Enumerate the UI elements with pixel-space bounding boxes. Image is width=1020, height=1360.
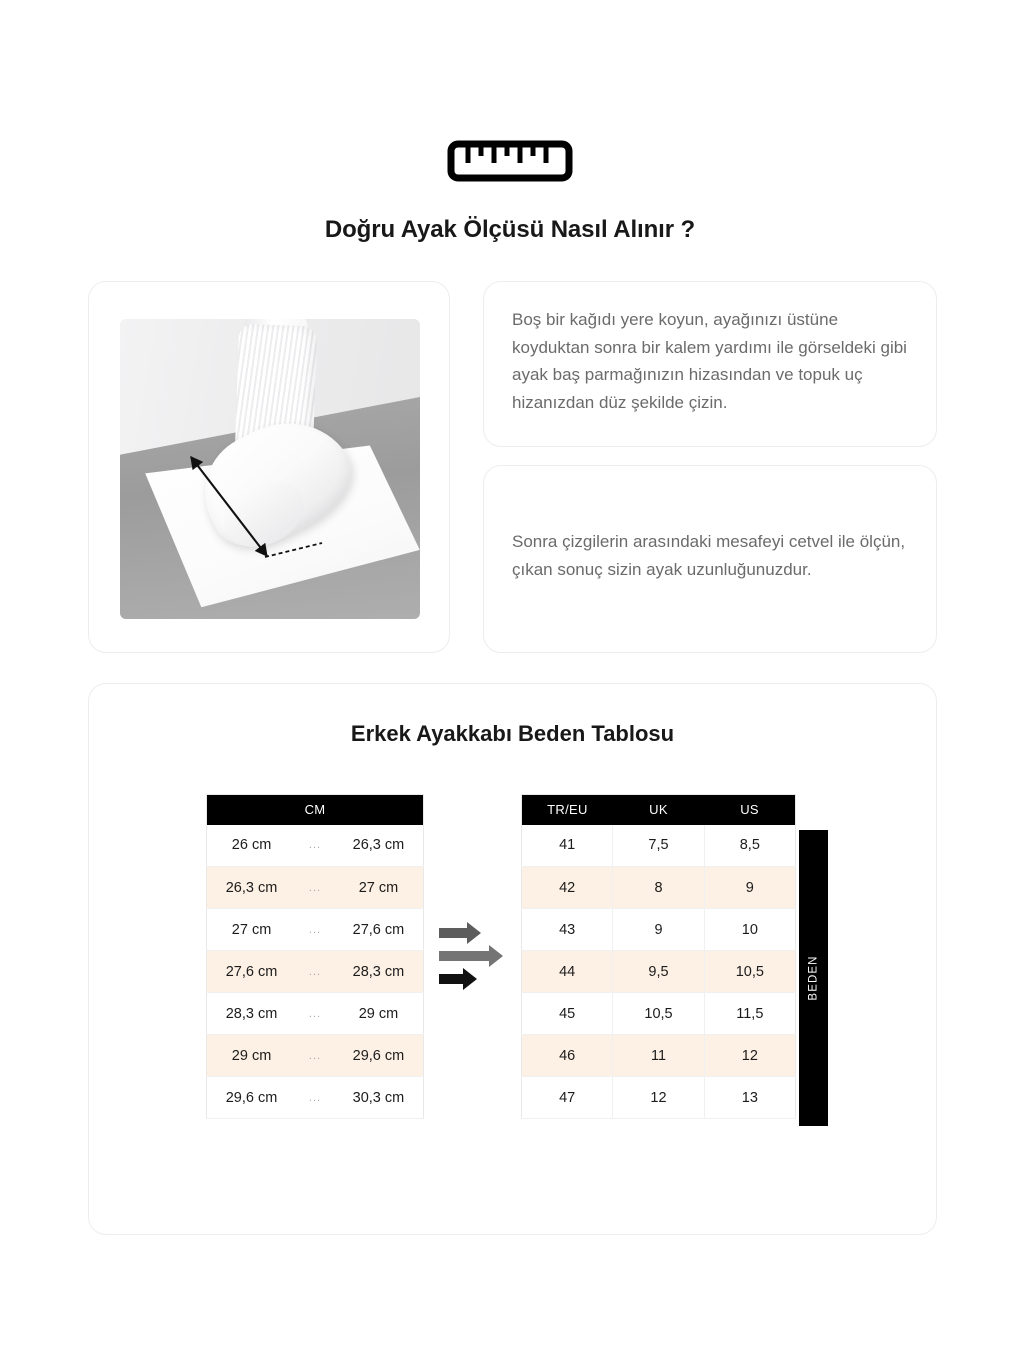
size-us: 12 <box>704 1035 795 1077</box>
instruction-card-2: Sonra çizgilerin arasındaki mesafeyi cet… <box>483 465 937 653</box>
table-row: 42 8 9 <box>522 867 796 909</box>
size-treu: 46 <box>522 1035 613 1077</box>
beden-vertical-bar: BEDEN <box>799 830 828 1126</box>
size-table-head: TR/EU UK US <box>522 795 796 825</box>
cm-to: 27,6 cm <box>334 909 424 951</box>
table-row: 41 7,5 8,5 <box>522 825 796 867</box>
size-us: 11,5 <box>704 993 795 1035</box>
cm-dots: ... <box>296 1035 334 1077</box>
cm-table: CM 26 cm ... 26,3 cm 26,3 cm ... 27 cm <box>206 794 424 1119</box>
measurement-arrow-icon <box>120 319 420 619</box>
cm-from: 26,3 cm <box>207 867 297 909</box>
size-conversion-table: TR/EU UK US 41 7,5 8,5 42 8 9 <box>521 794 796 1119</box>
cm-to: 26,3 cm <box>334 825 424 867</box>
size-table-title: Erkek Ayakkabı Beden Tablosu <box>89 721 936 747</box>
size-uk: 7,5 <box>613 825 704 867</box>
size-guide-page: Doğru Ayak Ölçüsü Nasıl Alınır ? <box>0 0 1020 1360</box>
table-row: 44 9,5 10,5 <box>522 951 796 993</box>
cm-dots: ... <box>296 825 334 867</box>
size-us: 13 <box>704 1077 795 1119</box>
size-uk: 11 <box>613 1035 704 1077</box>
instruction-text-1: Boş bir kağıdı yere koyun, ayağınızı üst… <box>512 306 912 416</box>
cm-from: 26 cm <box>207 825 297 867</box>
table-row: 29 cm ... 29,6 cm <box>207 1035 424 1077</box>
table-row: 47 12 13 <box>522 1077 796 1119</box>
cm-dots: ... <box>296 909 334 951</box>
ruler-icon <box>447 140 573 182</box>
size-table-body: 41 7,5 8,5 42 8 9 43 9 10 <box>522 825 796 1119</box>
size-treu: 47 <box>522 1077 613 1119</box>
photo-card <box>88 281 450 653</box>
size-treu: 44 <box>522 951 613 993</box>
cm-to: 29 cm <box>334 993 424 1035</box>
instruction-text-2: Sonra çizgilerin arasındaki mesafeyi cet… <box>512 528 912 583</box>
cm-from: 29 cm <box>207 1035 297 1077</box>
conversion-arrows-icon <box>437 922 505 992</box>
size-us: 9 <box>704 867 795 909</box>
size-us: 8,5 <box>704 825 795 867</box>
table-row: 29,6 cm ... 30,3 cm <box>207 1077 424 1119</box>
table-row: 45 10,5 11,5 <box>522 993 796 1035</box>
cm-dots: ... <box>296 867 334 909</box>
size-treu: 43 <box>522 909 613 951</box>
cm-to: 27 cm <box>334 867 424 909</box>
cm-from: 29,6 cm <box>207 1077 297 1119</box>
beden-label: BEDEN <box>808 955 820 1000</box>
page-title: Doğru Ayak Ölçüsü Nasıl Alınır ? <box>0 216 1020 244</box>
table-row: 46 11 12 <box>522 1035 796 1077</box>
cm-to: 29,6 cm <box>334 1035 424 1077</box>
cm-to: 28,3 cm <box>334 951 424 993</box>
cm-header-row: CM <box>207 795 424 825</box>
cm-to: 30,3 cm <box>334 1077 424 1119</box>
size-treu: 41 <box>522 825 613 867</box>
table-row: 26,3 cm ... 27 cm <box>207 867 424 909</box>
table-row: 27,6 cm ... 28,3 cm <box>207 951 424 993</box>
cm-dots: ... <box>296 1077 334 1119</box>
cm-table-body: 26 cm ... 26,3 cm 26,3 cm ... 27 cm 27 c… <box>207 825 424 1119</box>
ruler-icon-container <box>0 140 1020 182</box>
size-uk: 8 <box>613 867 704 909</box>
cm-dots: ... <box>296 951 334 993</box>
cm-dots: ... <box>296 993 334 1035</box>
cm-from: 27,6 cm <box>207 951 297 993</box>
table-row: 28,3 cm ... 29 cm <box>207 993 424 1035</box>
size-uk: 9 <box>613 909 704 951</box>
size-header-us: US <box>704 795 795 825</box>
size-table-card: Erkek Ayakkabı Beden Tablosu CM 26 cm ..… <box>88 683 937 1235</box>
size-us: 10 <box>704 909 795 951</box>
size-uk: 12 <box>613 1077 704 1119</box>
table-row: 26 cm ... 26,3 cm <box>207 825 424 867</box>
size-header-row: TR/EU UK US <box>522 795 796 825</box>
size-uk: 10,5 <box>613 993 704 1035</box>
tables-area: CM 26 cm ... 26,3 cm 26,3 cm ... 27 cm <box>89 794 936 1124</box>
size-uk: 9,5 <box>613 951 704 993</box>
cm-header-cell: CM <box>207 795 424 825</box>
cm-from: 28,3 cm <box>207 993 297 1035</box>
foot-measurement-photo <box>120 319 420 619</box>
size-treu: 42 <box>522 867 613 909</box>
size-header-treu: TR/EU <box>522 795 613 825</box>
cm-table-head: CM <box>207 795 424 825</box>
size-us: 10,5 <box>704 951 795 993</box>
table-row: 43 9 10 <box>522 909 796 951</box>
instruction-card-1: Boş bir kağıdı yere koyun, ayağınızı üst… <box>483 281 937 447</box>
cm-from: 27 cm <box>207 909 297 951</box>
size-treu: 45 <box>522 993 613 1035</box>
size-header-uk: UK <box>613 795 704 825</box>
table-row: 27 cm ... 27,6 cm <box>207 909 424 951</box>
